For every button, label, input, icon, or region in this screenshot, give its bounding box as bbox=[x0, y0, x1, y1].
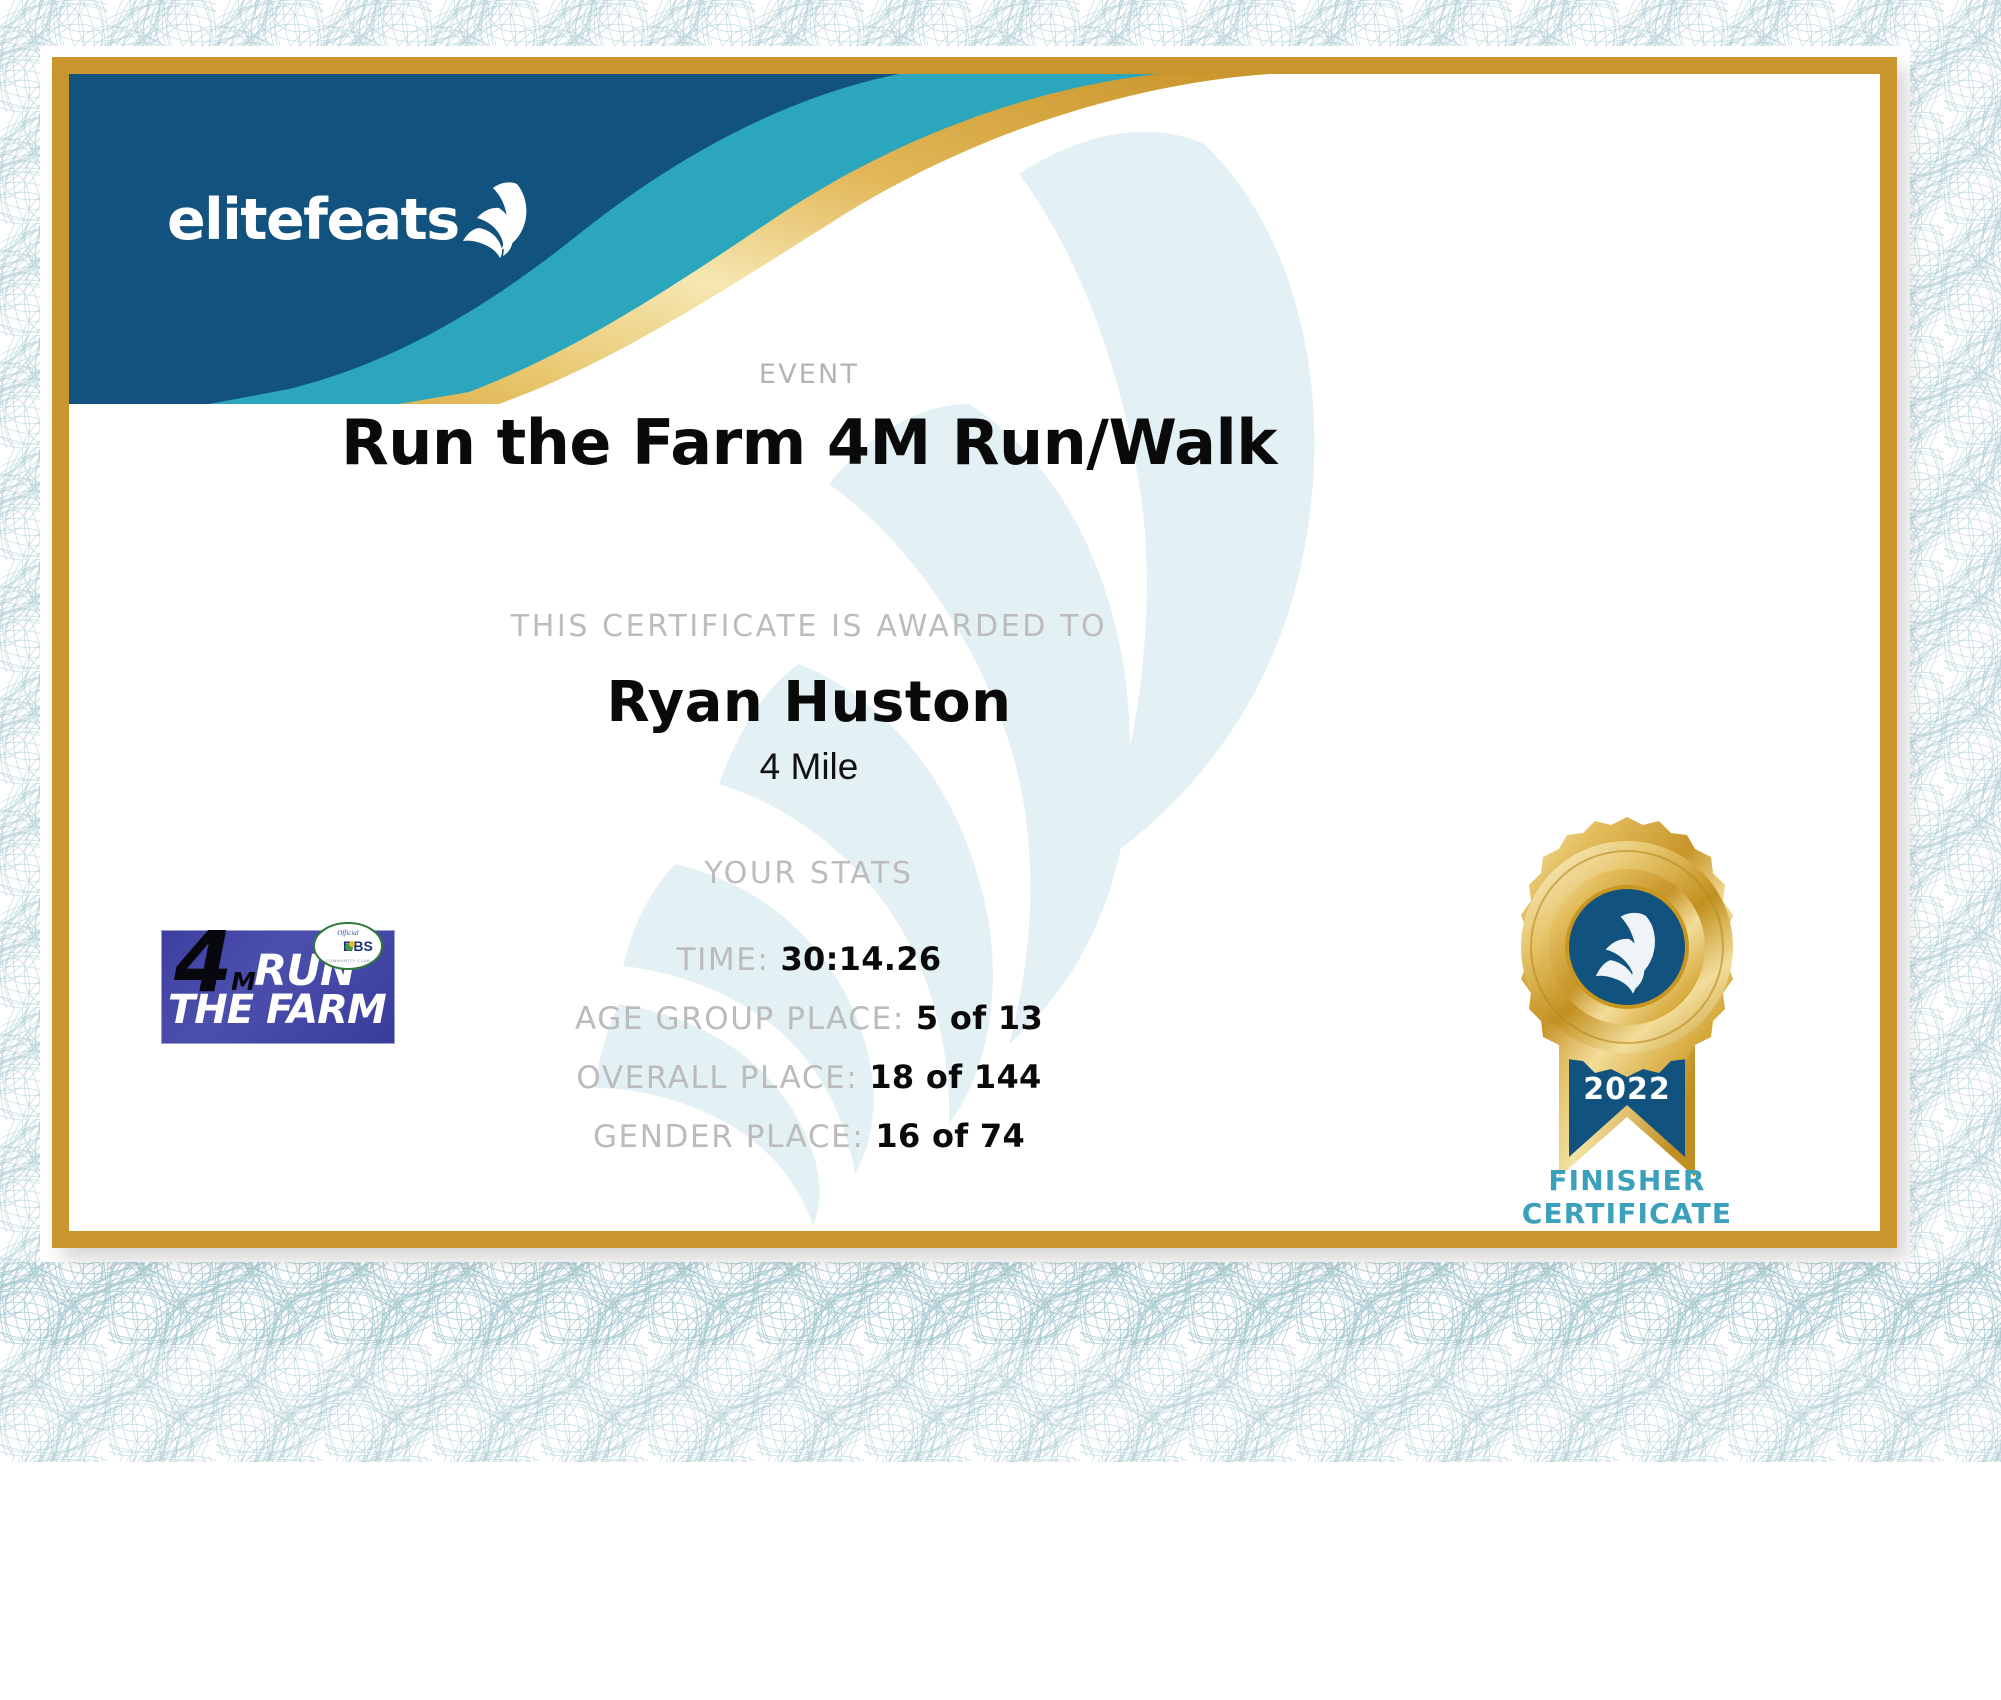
hobbs-sponsor-badge: Official H BBS COMMUNITY CLUB bbox=[313, 922, 383, 970]
elitefeats-logo: elitefeats bbox=[167, 182, 541, 258]
svg-text:COMMUNITY CLUB: COMMUNITY CLUB bbox=[326, 958, 371, 963]
stat-value: 30:14.26 bbox=[780, 940, 941, 978]
medal-caption-line-1: FINISHER bbox=[1467, 1164, 1787, 1197]
svg-text:2022: 2022 bbox=[1583, 1072, 1671, 1107]
recipient-name: Ryan Huston bbox=[69, 670, 1549, 735]
event-label: EVENT bbox=[69, 359, 1549, 390]
certificate-inner: elitefeats EVENT Run the Farm 4M Run/Wal… bbox=[69, 74, 1880, 1231]
stat-value: 5 of 13 bbox=[916, 999, 1043, 1037]
stat-label: AGE GROUP PLACE: bbox=[575, 1001, 905, 1037]
stat-value: 18 of 144 bbox=[869, 1058, 1041, 1096]
medal-caption: FINISHER CERTIFICATE bbox=[1467, 1164, 1787, 1230]
stat-row-gender-place: GENDER PLACE: 16 of 74 bbox=[69, 1117, 1549, 1155]
svg-text:Official: Official bbox=[337, 929, 358, 937]
finisher-medal: 2022 bbox=[1497, 799, 1757, 1199]
event-name: Run the Farm 4M Run/Walk bbox=[69, 406, 1549, 479]
stat-label: OVERALL PLACE: bbox=[576, 1060, 858, 1096]
brand-wordmark: elitefeats bbox=[167, 192, 459, 249]
winged-foot-icon bbox=[463, 182, 541, 258]
certificate-page: elitefeats EVENT Run the Farm 4M Run/Wal… bbox=[0, 0, 2001, 1700]
recipient-distance: 4 Mile bbox=[69, 746, 1549, 788]
stat-label: TIME: bbox=[677, 942, 770, 978]
certificate-card: elitefeats EVENT Run the Farm 4M Run/Wal… bbox=[52, 57, 1897, 1248]
stat-row-overall-place: OVERALL PLACE: 18 of 144 bbox=[69, 1058, 1549, 1096]
awarded-to-label: THIS CERTIFICATE IS AWARDED TO bbox=[69, 609, 1549, 644]
medal-caption-line-2: CERTIFICATE bbox=[1467, 1197, 1787, 1230]
stat-label: GENDER PLACE: bbox=[593, 1119, 864, 1155]
stat-value: 16 of 74 bbox=[875, 1117, 1025, 1155]
your-stats-label: YOUR STATS bbox=[69, 856, 1549, 891]
run-the-farm-logo: 4 M RUN THE FARM Official H BBS COMMUNIT… bbox=[161, 922, 393, 1042]
event-logo-the-farm-text: THE FARM bbox=[168, 990, 386, 1030]
